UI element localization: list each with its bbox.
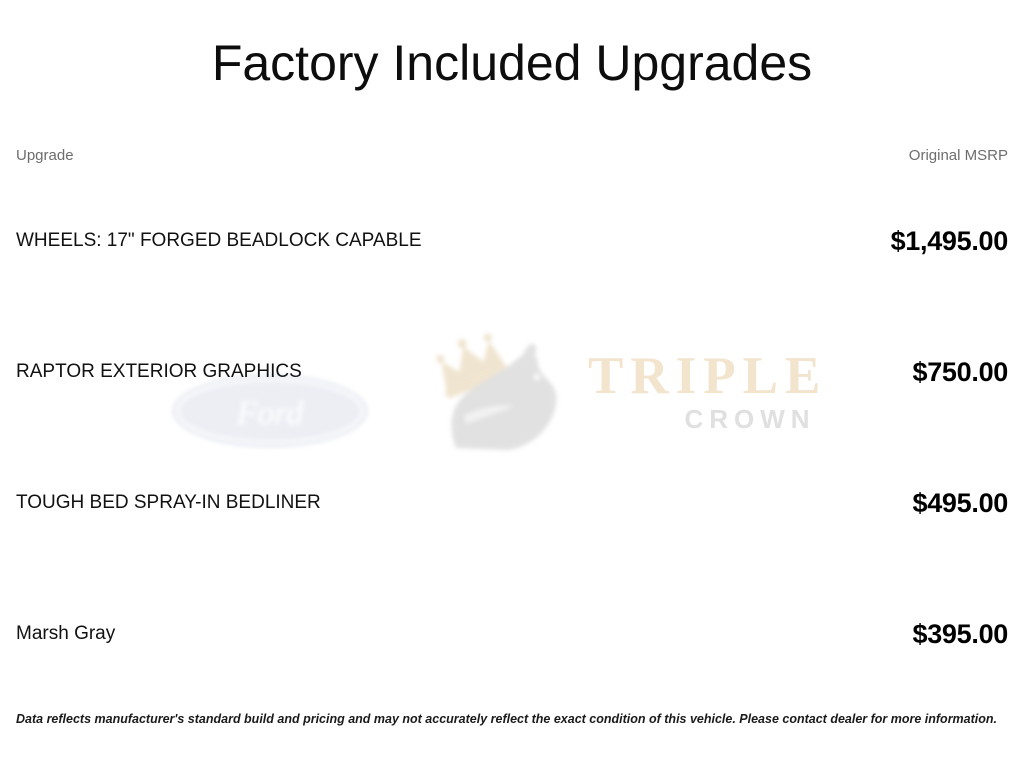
upgrade-price: $750.00: [656, 306, 1008, 437]
upgrade-price: $1,495.00: [656, 175, 1008, 306]
page-title: Factory Included Upgrades: [16, 0, 1008, 93]
table-row: Marsh Gray $395.00: [16, 568, 1008, 699]
table-header-row: Upgrade Original MSRP: [16, 135, 1008, 175]
table-row: WHEELS: 17" FORGED BEADLOCK CAPABLE $1,4…: [16, 175, 1008, 306]
table-body: WHEELS: 17" FORGED BEADLOCK CAPABLE $1,4…: [16, 175, 1008, 699]
column-header-upgrade: Upgrade: [16, 135, 656, 175]
upgrade-name: RAPTOR EXTERIOR GRAPHICS: [16, 306, 656, 437]
upgrade-price: $495.00: [656, 437, 1008, 568]
upgrade-name: Marsh Gray: [16, 568, 656, 699]
upgrade-price: $395.00: [656, 568, 1008, 699]
table-header: Upgrade Original MSRP: [16, 135, 1008, 175]
disclaimer-footnote: Data reflects manufacturer's standard bu…: [16, 711, 1008, 727]
column-header-original-msrp: Original MSRP: [656, 135, 1008, 175]
upgrade-name: WHEELS: 17" FORGED BEADLOCK CAPABLE: [16, 175, 656, 306]
upgrades-page: Factory Included Upgrades Upgrade Origin…: [0, 0, 1024, 768]
table-top-spacer: [16, 93, 1008, 135]
factory-upgrades-table: Upgrade Original MSRP WHEELS: 17" FORGED…: [16, 135, 1008, 699]
table-row: RAPTOR EXTERIOR GRAPHICS $750.00: [16, 306, 1008, 437]
table-row: TOUGH BED SPRAY-IN BEDLINER $495.00: [16, 437, 1008, 568]
upgrade-name: TOUGH BED SPRAY-IN BEDLINER: [16, 437, 656, 568]
